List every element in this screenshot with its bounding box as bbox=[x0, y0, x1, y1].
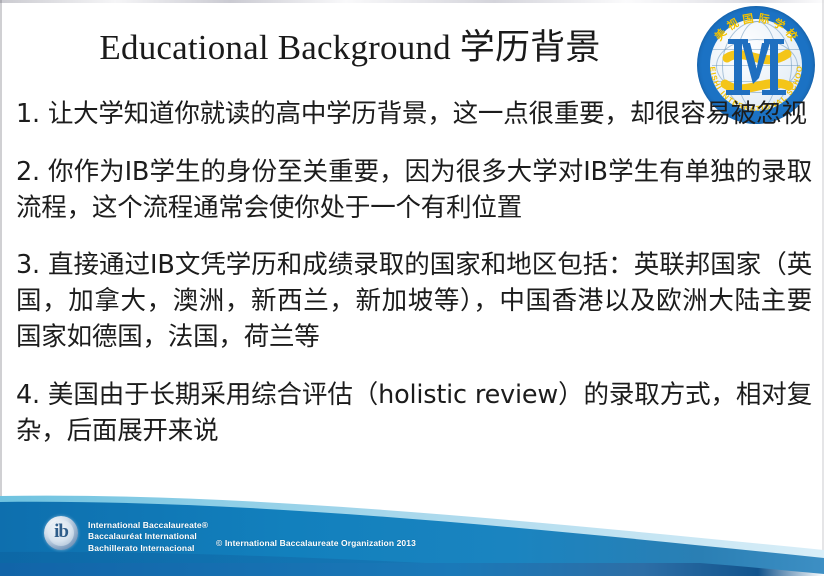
slide-canvas: Educational Background 学历背景 美 视 国 际 学 校 bbox=[0, 0, 824, 576]
ib-name-french: Baccalauréat International bbox=[88, 531, 208, 543]
bullet-item-2: 2. 你作为IB学生的身份至关重要，因为很多大学对IB学生有单独的录取流程，这个… bbox=[16, 154, 812, 226]
scan-artifact-line bbox=[0, 0, 824, 3]
footer-bottom-strip bbox=[0, 563, 824, 576]
logo-arc-top-text: 美 视 国 际 学 校 bbox=[711, 11, 801, 44]
copyright-notice: © International Baccalaureate Organizati… bbox=[216, 538, 416, 548]
ib-organization-names: International Baccalaureate® Baccalauréa… bbox=[88, 520, 208, 555]
page-title: Educational Background 学历背景 bbox=[0, 26, 700, 70]
bullet-list: 1. 让大学知道你就读的高中学历背景，这一点很重要，却很容易被忽视 2. 你作为… bbox=[16, 96, 812, 449]
bullet-item-4: 4. 美国由于长期采用综合评估（holistic review）的录取方式，相对… bbox=[16, 377, 812, 449]
ib-name-spanish: Bachillerato Internacional bbox=[88, 543, 208, 555]
bullet-item-3: 3. 直接通过IB文凭学历和成绩录取的国家和地区包括：英联邦国家（英国，加拿大，… bbox=[16, 247, 812, 355]
bullet-item-1: 1. 让大学知道你就读的高中学历背景，这一点很重要，却很容易被忽视 bbox=[16, 96, 812, 132]
ib-monogram: ib bbox=[44, 516, 78, 550]
footer-banner: ib International Baccalaureate® Baccalau… bbox=[0, 490, 824, 576]
ib-logo: ib bbox=[44, 516, 78, 550]
ib-name-english: International Baccalaureate® bbox=[88, 520, 208, 532]
